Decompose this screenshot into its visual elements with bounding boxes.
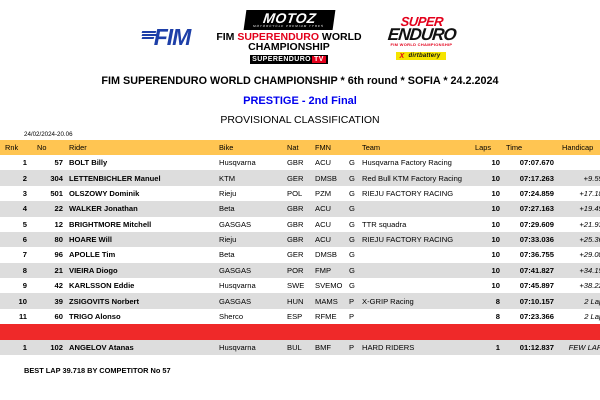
- table-row[interactable]: 1039ZSIGOVITS NorbertGASGASHUNMAMSPX-GRI…: [0, 293, 600, 308]
- result-cell-fmn: SVEMO: [315, 278, 349, 293]
- result-cell-number: 96: [32, 247, 69, 262]
- table-row[interactable]: 422WALKER JonathanBetaGBRACUG1007:27.163…: [0, 201, 600, 216]
- result-cell-laps: 10: [475, 263, 506, 278]
- result-cell-number: 304: [32, 170, 69, 185]
- superenduro-tv-text: SUPERENDURO: [252, 56, 311, 63]
- result-cell-fmn: DMSB: [315, 247, 349, 262]
- result-cell-team: [362, 278, 475, 293]
- non-classified-banner-row: NON-CLASSIFIED: [0, 324, 600, 339]
- provisional-title: PROVISIONAL CLASSIFICATION: [0, 114, 600, 126]
- result-cell-handicap: +34.157: [562, 263, 600, 278]
- table-row[interactable]: 680HOARE WillRiejuGBRACUGRIEJU FACTORY R…: [0, 232, 600, 247]
- non-classified-cell-bike: Husqvarna: [219, 340, 287, 355]
- non-classified-cell-rider: ANGELOV Atanas: [69, 340, 219, 355]
- result-cell-laps: 10: [475, 186, 506, 201]
- result-cell-bike: Beta: [219, 247, 287, 262]
- result-cell-team: X-GRIP Racing: [362, 293, 475, 308]
- result-cell-fmn: ACU: [315, 201, 349, 216]
- result-cell-number: 12: [32, 217, 69, 232]
- result-cell-team: Husqvarna Factory Racing: [362, 155, 475, 170]
- result-cell-nationality: POR: [287, 263, 315, 278]
- result-cell-group: G: [349, 186, 362, 201]
- result-cell-rider: HOARE Will: [69, 232, 219, 247]
- event-title: FIM SUPERENDURO WORLD CHAMPIONSHIP * 6th…: [0, 75, 600, 87]
- result-cell-nationality: GER: [287, 247, 315, 262]
- superenduro-tv-logo: SUPERENDUROTV: [250, 55, 328, 64]
- result-cell-rank: 2: [0, 170, 32, 185]
- result-cell-fmn: RFME: [315, 309, 349, 324]
- championship-line-2: CHAMPIONSHIP: [248, 42, 330, 53]
- result-cell-team: RIEJU FACTORY RACING: [362, 232, 475, 247]
- class-title: PRESTIGE - 2nd Final: [0, 95, 600, 107]
- non-classified-cell-rank: 1: [0, 340, 32, 355]
- result-cell-rider: LETTENBICHLER Manuel: [69, 170, 219, 185]
- table-row[interactable]: 512BRIGHTMORE MitchellGASGASGBRACUGTTR s…: [0, 217, 600, 232]
- column-header-handicap: Handicap: [562, 140, 600, 155]
- result-cell-handicap: +19.493: [562, 201, 600, 216]
- generated-timestamp: 24/02/2024-20.06: [24, 131, 600, 138]
- result-cell-group: G: [349, 247, 362, 262]
- result-cell-nationality: GBR: [287, 217, 315, 232]
- result-cell-team: [362, 247, 475, 262]
- result-cell-number: 42: [32, 278, 69, 293]
- result-cell-rider: VIEIRA Diogo: [69, 263, 219, 278]
- result-cell-handicap: +38.227: [562, 278, 600, 293]
- non-classified-cell-nationality: BUL: [287, 340, 315, 355]
- result-cell-laps: 10: [475, 201, 506, 216]
- non-classified-cell-laps: 1: [475, 340, 506, 355]
- result-cell-rank: 9: [0, 278, 32, 293]
- result-cell-fmn: PZM: [315, 186, 349, 201]
- result-cell-fmn: ACU: [315, 217, 349, 232]
- result-cell-time: 07:29.609: [506, 217, 562, 232]
- motoz-logo-sub: MOTORCYCLE PREMIUM TYRES: [252, 25, 323, 28]
- result-cell-time: 07:23.366: [506, 309, 562, 324]
- result-cell-fmn: FMP: [315, 263, 349, 278]
- fim-logo: FIM: [145, 26, 191, 49]
- result-cell-time: 07:07.670: [506, 155, 562, 170]
- table-header-row: Rnk No Rider Bike Nat FMN Team Laps Time…: [0, 140, 600, 155]
- result-cell-bike: Rieju: [219, 186, 287, 201]
- result-cell-handicap: 2 Laps: [562, 293, 600, 308]
- result-cell-team: Red Bull KTM Factory Racing: [362, 170, 475, 185]
- result-cell-bike: GASGAS: [219, 217, 287, 232]
- result-cell-rider: KARLSSON Eddie: [69, 278, 219, 293]
- column-header-group: [349, 140, 362, 155]
- result-cell-rank: 7: [0, 247, 32, 262]
- result-cell-group: G: [349, 263, 362, 278]
- table-row[interactable]: 1160TRIGO AlonsoShercoESPRFMEP807:23.366…: [0, 309, 600, 324]
- non-classified-cell-number: 102: [32, 340, 69, 355]
- result-cell-group: G: [349, 217, 362, 232]
- result-cell-group: G: [349, 201, 362, 216]
- table-row[interactable]: 3501OLSZOWY DominikRiejuPOLPZMGRIEJU FAC…: [0, 186, 600, 201]
- result-cell-number: 39: [32, 293, 69, 308]
- column-header-rnk: Rnk: [0, 140, 32, 155]
- non-classified-cell-time: 01:12.837: [506, 340, 562, 355]
- result-cell-time: 07:24.859: [506, 186, 562, 201]
- result-cell-handicap: [562, 155, 600, 170]
- result-cell-fmn: ACU: [315, 155, 349, 170]
- result-cell-number: 501: [32, 186, 69, 201]
- result-cell-time: 07:36.755: [506, 247, 562, 262]
- result-cell-rank: 5: [0, 217, 32, 232]
- result-cell-bike: Sherco: [219, 309, 287, 324]
- result-cell-handicap: +21.939: [562, 217, 600, 232]
- result-cell-nationality: GBR: [287, 201, 315, 216]
- result-cell-number: 21: [32, 263, 69, 278]
- result-cell-time: 07:45.897: [506, 278, 562, 293]
- result-cell-rank: 11: [0, 309, 32, 324]
- fim-swoosh-icon: [142, 31, 158, 41]
- column-header-no: No: [32, 140, 69, 155]
- sponsor-logo-text: dirtbattery: [408, 53, 440, 59]
- result-cell-group: G: [349, 232, 362, 247]
- non-classified-cell-handicap: FEW LAPS: [562, 340, 600, 355]
- result-cell-time: 07:17.263: [506, 170, 562, 185]
- result-cell-bike: Rieju: [219, 232, 287, 247]
- result-cell-laps: 8: [475, 309, 506, 324]
- sponsor-mark-icon: X: [399, 53, 404, 60]
- non-classified-cell-fmn: BMF: [315, 340, 349, 355]
- table-row[interactable]: 157BOLT BillyHusqvarnaGBRACUGHusqvarna F…: [0, 155, 600, 170]
- result-cell-rank: 3: [0, 186, 32, 201]
- column-header-nat: Nat: [287, 140, 315, 155]
- result-cell-handicap: +17.189: [562, 186, 600, 201]
- result-cell-rank: 4: [0, 201, 32, 216]
- result-cell-group: G: [349, 170, 362, 185]
- result-cell-rank: 1: [0, 155, 32, 170]
- result-cell-bike: Husqvarna: [219, 278, 287, 293]
- result-cell-bike: KTM: [219, 170, 287, 185]
- championship-fim-prefix: FIM: [216, 31, 237, 43]
- superenduro-logo-block: SUPER ENDURO FIM WORLD CHAMPIONSHIP X di…: [388, 15, 456, 60]
- table-row[interactable]: 942KARLSSON EddieHusqvarnaSWESVEMOG1007:…: [0, 278, 600, 293]
- result-cell-team: [362, 201, 475, 216]
- result-cell-rider: APOLLE Tim: [69, 247, 219, 262]
- result-cell-group: G: [349, 278, 362, 293]
- result-cell-rank: 8: [0, 263, 32, 278]
- result-cell-rider: BRIGHTMORE Mitchell: [69, 217, 219, 232]
- result-cell-bike: GASGAS: [219, 293, 287, 308]
- result-cell-handicap: +9.593: [562, 170, 600, 185]
- fim-logo-text: FIM: [154, 24, 191, 50]
- result-cell-nationality: ESP: [287, 309, 315, 324]
- non-classified-cell-team: HARD RIDERS: [362, 340, 475, 355]
- motoz-logo: MOTOZ MOTORCYCLE PREMIUM TYRES: [243, 10, 335, 30]
- result-cell-team: RIEJU FACTORY RACING: [362, 186, 475, 201]
- sponsor-logo: X dirtbattery: [396, 52, 446, 60]
- result-cell-fmn: ACU: [315, 232, 349, 247]
- result-cell-group: P: [349, 293, 362, 308]
- superenduro-logo: SUPER ENDURO FIM WORLD CHAMPIONSHIP: [388, 15, 456, 47]
- logo-bar: FIM MOTOZ MOTORCYCLE PREMIUM TYRES FIM S…: [0, 0, 600, 70]
- result-cell-rider: ZSIGOVITS Norbert: [69, 293, 219, 308]
- table-row[interactable]: 1102ANGELOV AtanasHusqvarnaBULBMFPHARD R…: [0, 340, 600, 355]
- table-row[interactable]: 821VIEIRA DiogoGASGASPORFMPG1007:41.827+…: [0, 263, 600, 278]
- result-cell-handicap: +29.085: [562, 247, 600, 262]
- table-row[interactable]: 796APOLLE TimBetaGERDMSBG1007:36.755+29.…: [0, 247, 600, 262]
- result-cell-laps: 10: [475, 278, 506, 293]
- non-classified-cell-group: P: [349, 340, 362, 355]
- result-cell-nationality: GER: [287, 170, 315, 185]
- column-header-fmn: FMN: [315, 140, 349, 155]
- result-cell-bike: Husqvarna: [219, 155, 287, 170]
- result-cell-time: 07:10.157: [506, 293, 562, 308]
- result-cell-number: 80: [32, 232, 69, 247]
- result-cell-nationality: SWE: [287, 278, 315, 293]
- result-cell-time: 07:27.163: [506, 201, 562, 216]
- column-header-bike: Bike: [219, 140, 287, 155]
- results-table-head: Rnk No Rider Bike Nat FMN Team Laps Time…: [0, 140, 600, 155]
- result-cell-number: 57: [32, 155, 69, 170]
- result-cell-laps: 10: [475, 170, 506, 185]
- result-cell-rank: 10: [0, 293, 32, 308]
- result-cell-fmn: MAMS: [315, 293, 349, 308]
- result-cell-rider: TRIGO Alonso: [69, 309, 219, 324]
- result-cell-laps: 10: [475, 155, 506, 170]
- result-cell-handicap: 2 Laps: [562, 309, 600, 324]
- result-cell-nationality: GBR: [287, 232, 315, 247]
- result-cell-number: 22: [32, 201, 69, 216]
- result-cell-time: 07:33.036: [506, 232, 562, 247]
- result-cell-group: P: [349, 309, 362, 324]
- result-cell-nationality: GBR: [287, 155, 315, 170]
- result-cell-rider: WALKER Jonathan: [69, 201, 219, 216]
- non-classified-banner-label: NON-CLASSIFIED: [0, 324, 600, 339]
- result-cell-bike: Beta: [219, 201, 287, 216]
- results-table: Rnk No Rider Bike Nat FMN Team Laps Time…: [0, 140, 600, 355]
- superenduro-tv-badge: TV: [312, 56, 326, 63]
- result-cell-rider: OLSZOWY Dominik: [69, 186, 219, 201]
- column-header-time: Time: [506, 140, 562, 155]
- result-cell-team: [362, 309, 475, 324]
- championship-logo-block: MOTOZ MOTORCYCLE PREMIUM TYRES FIM SUPER…: [216, 10, 361, 64]
- column-header-laps: Laps: [475, 140, 506, 155]
- result-cell-laps: 10: [475, 217, 506, 232]
- fim-logo-block: FIM: [145, 26, 191, 49]
- result-cell-nationality: POL: [287, 186, 315, 201]
- best-lap-footer: BEST LAP 39.718 BY COMPETITOR No 57: [24, 366, 600, 375]
- result-cell-fmn: DMSB: [315, 170, 349, 185]
- table-row[interactable]: 2304LETTENBICHLER ManuelKTMGERDMSBGRed B…: [0, 170, 600, 185]
- result-cell-nationality: HUN: [287, 293, 315, 308]
- superenduro-logo-bottom: ENDURO: [387, 26, 456, 43]
- result-cell-handicap: +25.366: [562, 232, 600, 247]
- result-cell-laps: 10: [475, 232, 506, 247]
- result-cell-team: TTR squadra: [362, 217, 475, 232]
- result-cell-laps: 8: [475, 293, 506, 308]
- result-cell-bike: GASGAS: [219, 263, 287, 278]
- result-cell-laps: 10: [475, 247, 506, 262]
- result-cell-rider: BOLT Billy: [69, 155, 219, 170]
- result-cell-rank: 6: [0, 232, 32, 247]
- result-cell-team: [362, 263, 475, 278]
- result-cell-number: 60: [32, 309, 69, 324]
- column-header-team: Team: [362, 140, 475, 155]
- results-table-body: 157BOLT BillyHusqvarnaGBRACUGHusqvarna F…: [0, 155, 600, 355]
- result-cell-group: G: [349, 155, 362, 170]
- column-header-rider: Rider: [69, 140, 219, 155]
- result-cell-time: 07:41.827: [506, 263, 562, 278]
